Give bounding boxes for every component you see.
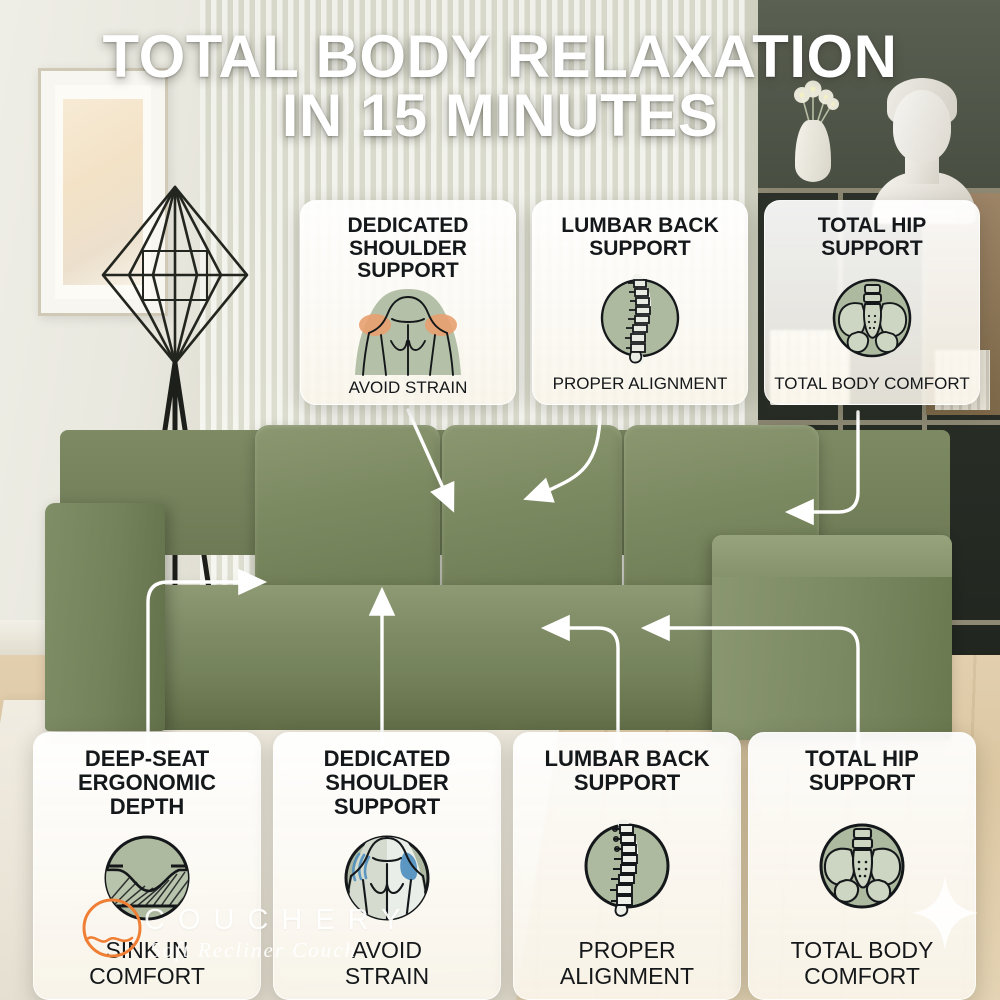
feature-card-hip-top[interactable]: TOTAL HIP SUPPORT <box>764 200 980 405</box>
feature-card-lumbar-bottom[interactable]: LUMBAR BACK SUPPORT <box>513 732 741 1000</box>
card-subtitle: PROPER ALIGNMENT <box>560 938 694 989</box>
feature-card-lumbar-top[interactable]: LUMBAR BACK SUPPORT <box>532 200 748 405</box>
card-subtitle: AVOID STRAIN <box>349 379 468 398</box>
spine-icon <box>590 260 690 375</box>
headline-line-2: IN 15 MINUTES <box>0 87 1000 146</box>
shoulder-torso-icon <box>333 818 441 938</box>
card-subtitle: AVOID STRAIN <box>345 938 429 989</box>
card-title: DEDICATED SHOULDER SUPPORT <box>282 747 492 818</box>
card-subtitle: TOTAL BODY COMFORT <box>774 375 970 394</box>
sofa-product <box>0 415 1000 725</box>
card-title: LUMBAR BACK SUPPORT <box>561 215 718 260</box>
feature-card-shoulder-bottom[interactable]: DEDICATED SHOULDER SUPPORT <box>273 732 501 1000</box>
card-title: DEEP-SEAT ERGONOMIC DEPTH <box>42 747 252 818</box>
infographic-canvas: TOTAL BODY RELAXATION IN 15 MINUTES DEDI… <box>0 0 1000 1000</box>
sofa-arm-right-top <box>712 535 952 577</box>
feature-card-shoulder-top[interactable]: DEDICATED SHOULDER SUPPORT <box>300 200 516 405</box>
card-title: TOTAL HIP SUPPORT <box>818 215 927 260</box>
card-title: TOTAL HIP SUPPORT <box>805 747 919 795</box>
sofa-arm-left <box>45 503 165 731</box>
card-title: LUMBAR BACK SUPPORT <box>545 747 710 795</box>
headline-line-1: TOTAL BODY RELAXATION <box>0 28 1000 87</box>
pelvis-icon <box>822 260 922 375</box>
card-subtitle: PROPER ALIGNMENT <box>553 375 728 394</box>
cushion-depth-icon <box>93 818 201 938</box>
pelvis-icon <box>808 795 916 939</box>
spine-icon <box>573 795 681 939</box>
feature-card-hip-bottom[interactable]: TOTAL HIP SUPPORT <box>748 732 976 1000</box>
feature-card-deepseat-bottom[interactable]: DEEP-SEAT ERGONOMIC DEPTH <box>33 732 261 1000</box>
back-cushion <box>255 425 440 590</box>
page-title: TOTAL BODY RELAXATION IN 15 MINUTES <box>0 28 1000 146</box>
card-title: DEDICATED SHOULDER SUPPORT <box>309 215 507 283</box>
sparkle-icon <box>910 874 980 952</box>
card-subtitle: SINK IN COMFORT <box>89 938 205 989</box>
back-cushion <box>442 425 622 590</box>
shoulder-torso-icon <box>349 283 467 379</box>
